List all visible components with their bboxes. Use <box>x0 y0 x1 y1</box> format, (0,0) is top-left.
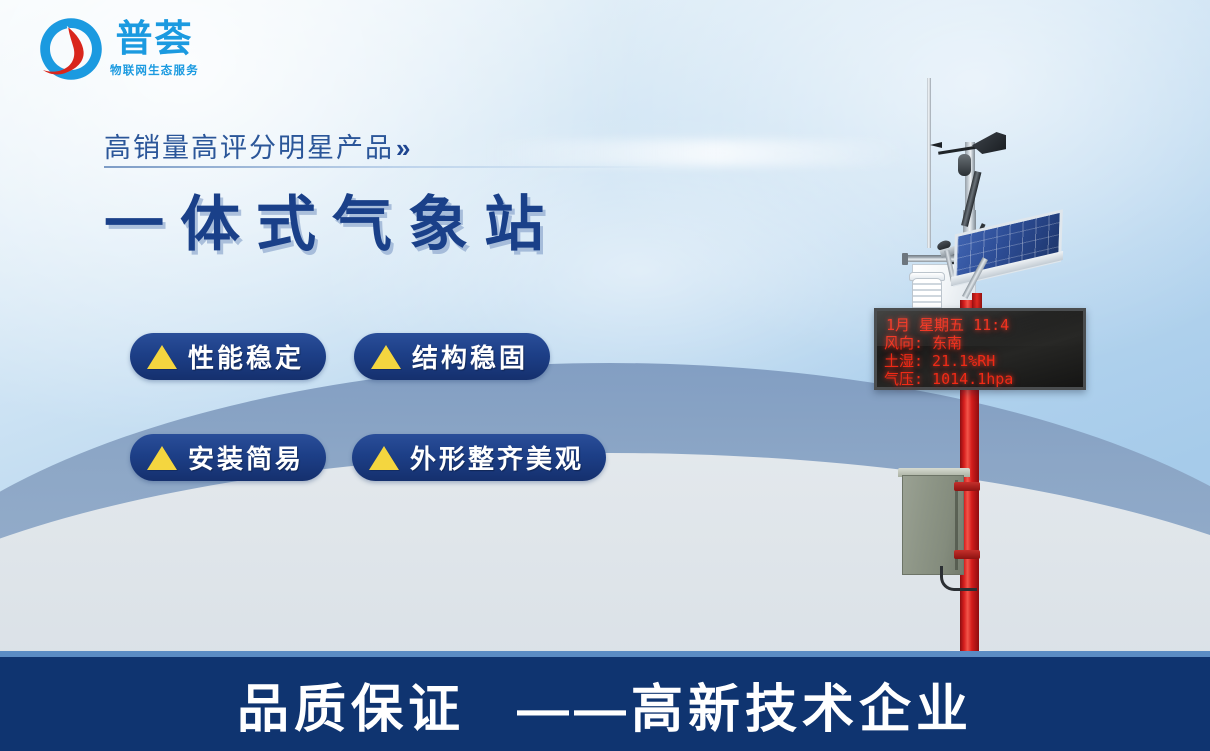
led-display-board: 1月 星期五 11:4 风向: 东南 土湿: 21.1%RH 气压: 1014.… <box>874 308 1086 390</box>
footer-banner: 品质保证 ——高新技术企业 <box>0 651 1210 751</box>
feature-label: 结构稳固 <box>412 338 528 375</box>
footer-text-left: 品质保证 <box>237 667 465 742</box>
double-chevron-right-icon: » <box>396 133 410 164</box>
cabinet-clamp <box>954 550 980 559</box>
led-line-wind-direction: 风向: 东南 <box>884 334 1076 352</box>
brand-logo: 普荟 物联网生态服务 <box>36 14 199 84</box>
sensor-arm-cap <box>902 253 908 265</box>
circular-swoosh-logo-icon <box>36 14 106 84</box>
brand-text: 普荟 物联网生态服务 <box>110 14 199 78</box>
triangle-up-icon <box>147 446 177 470</box>
feature-pill: 结构稳固 <box>354 333 550 380</box>
brand-tagline: 物联网生态服务 <box>110 62 199 78</box>
wind-vane-body <box>958 154 971 176</box>
cabinet-cable <box>940 566 977 591</box>
feature-pill: 外形整齐美观 <box>352 434 606 481</box>
led-line-pressure: 气压: 1014.1hpa <box>884 370 1076 388</box>
led-line-soil-humidity: 土湿: 21.1%RH <box>884 352 1076 370</box>
eyebrow-text: 高销量高评分明星产品 <box>104 126 394 165</box>
feature-label: 安装简易 <box>188 439 304 476</box>
eyebrow-divider <box>104 166 664 168</box>
triangle-up-icon <box>371 345 401 369</box>
feature-label: 性能稳定 <box>188 338 304 375</box>
wind-vane-fin <box>972 132 1006 154</box>
antenna-rod <box>927 78 931 248</box>
triangle-up-icon <box>369 446 399 470</box>
feature-row-2: 安装简易 外形整齐美观 <box>130 434 606 481</box>
footer-text-right: ——高新技术企业 <box>517 667 973 742</box>
triangle-up-icon <box>147 345 177 369</box>
feature-row-1: 性能稳定 结构稳固 <box>130 333 550 380</box>
wind-vane-counterweight <box>930 142 942 148</box>
led-line-date: 1月 星期五 11:4 <box>884 316 1076 334</box>
weather-station-product: 1月 星期五 11:4 风向: 东南 土湿: 21.1%RH 气压: 1014.… <box>820 50 1150 670</box>
feature-label: 外形整齐美观 <box>410 439 584 476</box>
footer-text: 品质保证 ——高新技术企业 <box>237 667 973 742</box>
feature-pill: 性能稳定 <box>130 333 326 380</box>
eyebrow-row: 高销量高评分明星产品 » <box>104 126 410 165</box>
brand-name: 普荟 <box>115 20 193 59</box>
page-title: 一体式气象站 <box>104 176 560 263</box>
feature-pill: 安装简易 <box>130 434 326 481</box>
product-banner: 普荟 物联网生态服务 高销量高评分明星产品 » 一体式气象站 性能稳定 结构稳固… <box>0 0 1210 751</box>
cabinet-clamp <box>954 482 980 491</box>
